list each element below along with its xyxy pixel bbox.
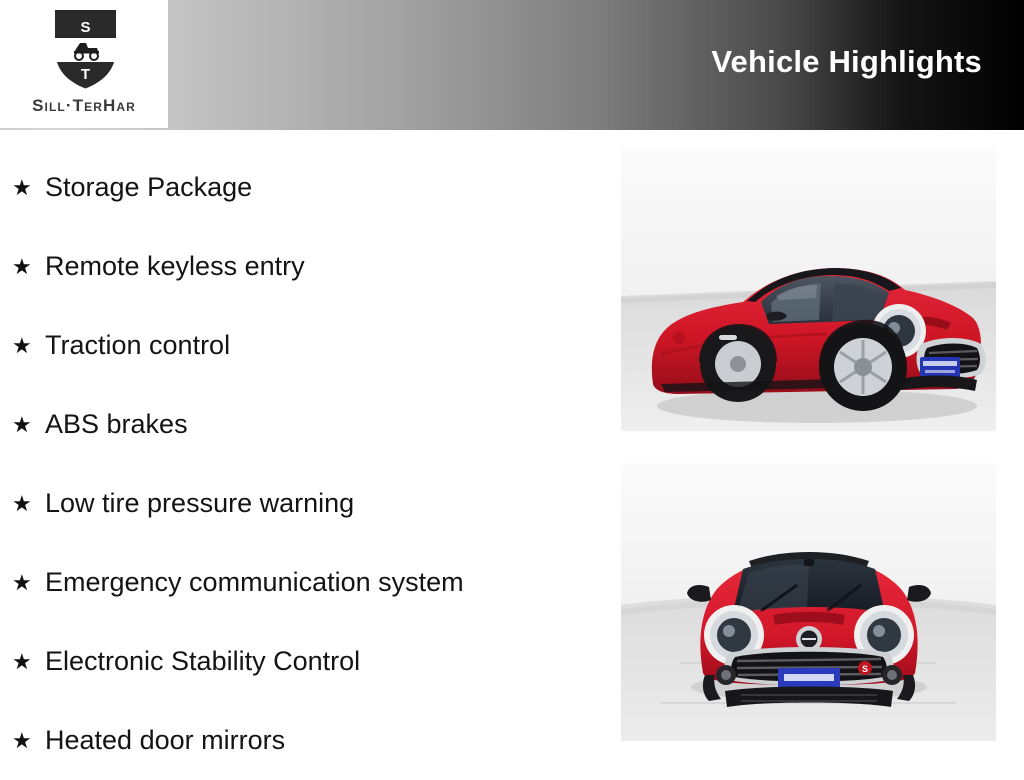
- dealer-wordmark: Sill·TerHar: [0, 96, 168, 116]
- list-item-label: ABS brakes: [45, 409, 188, 440]
- list-item-label: Storage Package: [45, 172, 252, 203]
- list-item: ★ Low tire pressure warning: [0, 464, 600, 543]
- list-item-label: Heated door mirrors: [45, 725, 285, 756]
- vehicle-photo-front-three-quarter[interactable]: [621, 148, 996, 431]
- svg-text:S: S: [80, 19, 90, 36]
- star-bullet-icon: ★: [12, 335, 45, 357]
- list-item: ★ Storage Package: [0, 148, 600, 227]
- list-item: ★ Traction control: [0, 306, 600, 385]
- svg-text:T: T: [81, 66, 90, 83]
- list-item-label: Low tire pressure warning: [45, 488, 354, 519]
- svg-text:S: S: [862, 664, 868, 674]
- list-item: ★ Electronic Stability Control: [0, 622, 600, 701]
- shield-icon: S T: [52, 7, 119, 91]
- star-bullet-icon: ★: [12, 177, 45, 199]
- list-item: ★ Remote keyless entry: [0, 227, 600, 306]
- star-bullet-icon: ★: [12, 256, 45, 278]
- list-item: ★ Emergency communication system: [0, 543, 600, 622]
- vehicle-highlights-list: ★ Storage Package ★ Remote keyless entry…: [0, 148, 600, 780]
- list-item-label: Emergency communication system: [45, 567, 464, 598]
- list-item-label: Traction control: [45, 330, 230, 361]
- star-bullet-icon: ★: [12, 414, 45, 436]
- star-bullet-icon: ★: [12, 730, 45, 752]
- list-item-label: Remote keyless entry: [45, 251, 305, 282]
- vehicle-photo-front[interactable]: S: [621, 463, 996, 741]
- list-item: ★ Heated door mirrors: [0, 701, 600, 780]
- page-title: Vehicle Highlights: [711, 44, 982, 80]
- star-bullet-icon: ★: [12, 651, 45, 673]
- list-item: ★ ABS brakes: [0, 385, 600, 464]
- list-item-label: Electronic Stability Control: [45, 646, 360, 677]
- star-bullet-icon: ★: [12, 493, 45, 515]
- dealer-logo[interactable]: S T Sill·TerHar: [0, 0, 168, 128]
- star-bullet-icon: ★: [12, 572, 45, 594]
